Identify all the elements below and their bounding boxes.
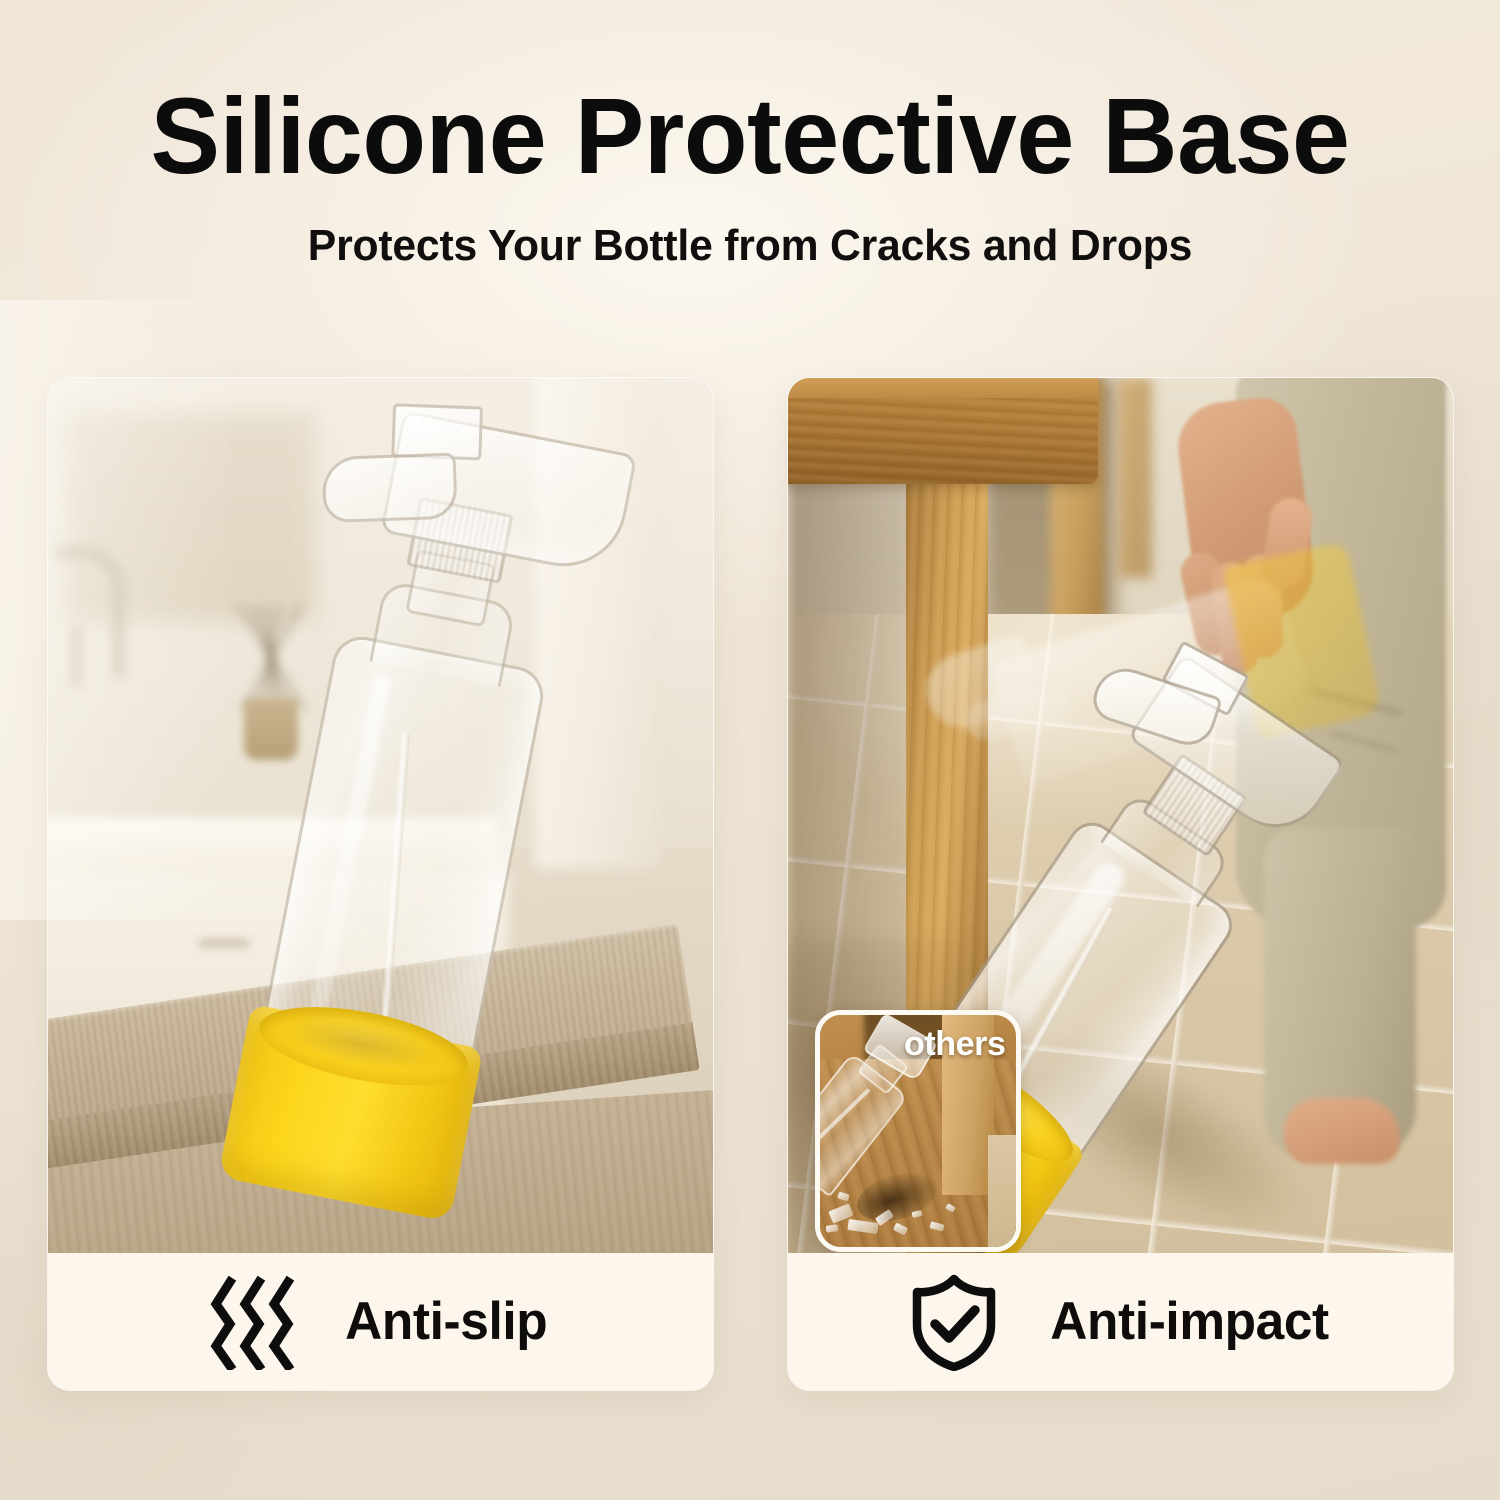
anti-impact-caption-bar: Anti-impact	[788, 1253, 1453, 1390]
inset-tile-edge	[988, 1135, 1021, 1252]
page-subtitle: Protects Your Bottle from Cracks and Dro…	[23, 224, 1478, 268]
feature-card-anti-impact: others Anti-impact	[788, 378, 1453, 1390]
shield-check-icon	[908, 1273, 1000, 1371]
glass-shard	[875, 1209, 894, 1226]
table-top-edge	[788, 378, 1098, 398]
header-block: Silicone Protective Base Protects Your B…	[0, 82, 1500, 268]
glass-shard	[929, 1221, 944, 1231]
glass-shard	[945, 1203, 956, 1213]
glass-shard	[826, 1224, 839, 1233]
product-infographic: Silicone Protective Base Protects Your B…	[0, 0, 1500, 1500]
anti-slip-caption-bar: Anti-slip	[48, 1253, 713, 1390]
glass-shard	[847, 1219, 878, 1234]
inset-glass-shards	[826, 1177, 966, 1239]
zigzag-waves-icon	[210, 1274, 296, 1370]
anti-slip-photo	[48, 378, 713, 1253]
others-label: others	[904, 1025, 1006, 1064]
glass-shard	[837, 1191, 850, 1201]
glass-shard	[911, 1210, 922, 1218]
glass-shard	[893, 1223, 908, 1236]
spray-nozzle	[391, 403, 483, 460]
feature-card-anti-slip: Anti-slip	[48, 378, 713, 1390]
others-comparison-inset: others	[815, 1010, 1021, 1252]
page-title: Silicone Protective Base	[26, 82, 1474, 190]
anti-impact-photo: others	[788, 378, 1453, 1253]
trigger-lever	[322, 453, 458, 524]
anti-slip-label: Anti-slip	[345, 1291, 547, 1352]
kitchen-faucet	[56, 546, 125, 677]
anti-impact-label: Anti-impact	[1050, 1291, 1328, 1352]
kitchen-faucet-stem	[70, 626, 83, 688]
